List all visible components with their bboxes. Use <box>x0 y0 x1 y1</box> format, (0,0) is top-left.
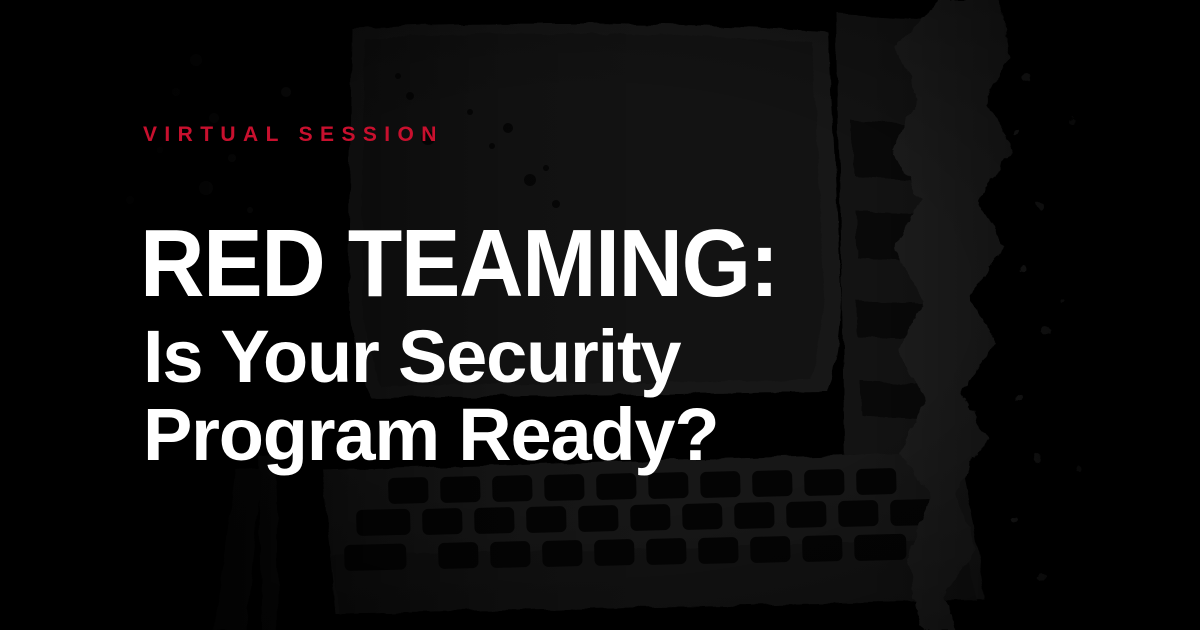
promo-banner: VIRTUAL SESSION RED TEAMING: Is Your Sec… <box>0 0 1200 630</box>
banner-content: VIRTUAL SESSION RED TEAMING: Is Your Sec… <box>143 0 1003 630</box>
subheading-line-1: Is Your Security <box>143 318 963 396</box>
subheading-line-2: Program Ready? <box>143 396 963 474</box>
eyebrow-label: VIRTUAL SESSION <box>143 124 444 145</box>
subheading: Is Your Security Program Ready? <box>143 318 963 475</box>
page-title: RED TEAMING: <box>140 222 778 306</box>
